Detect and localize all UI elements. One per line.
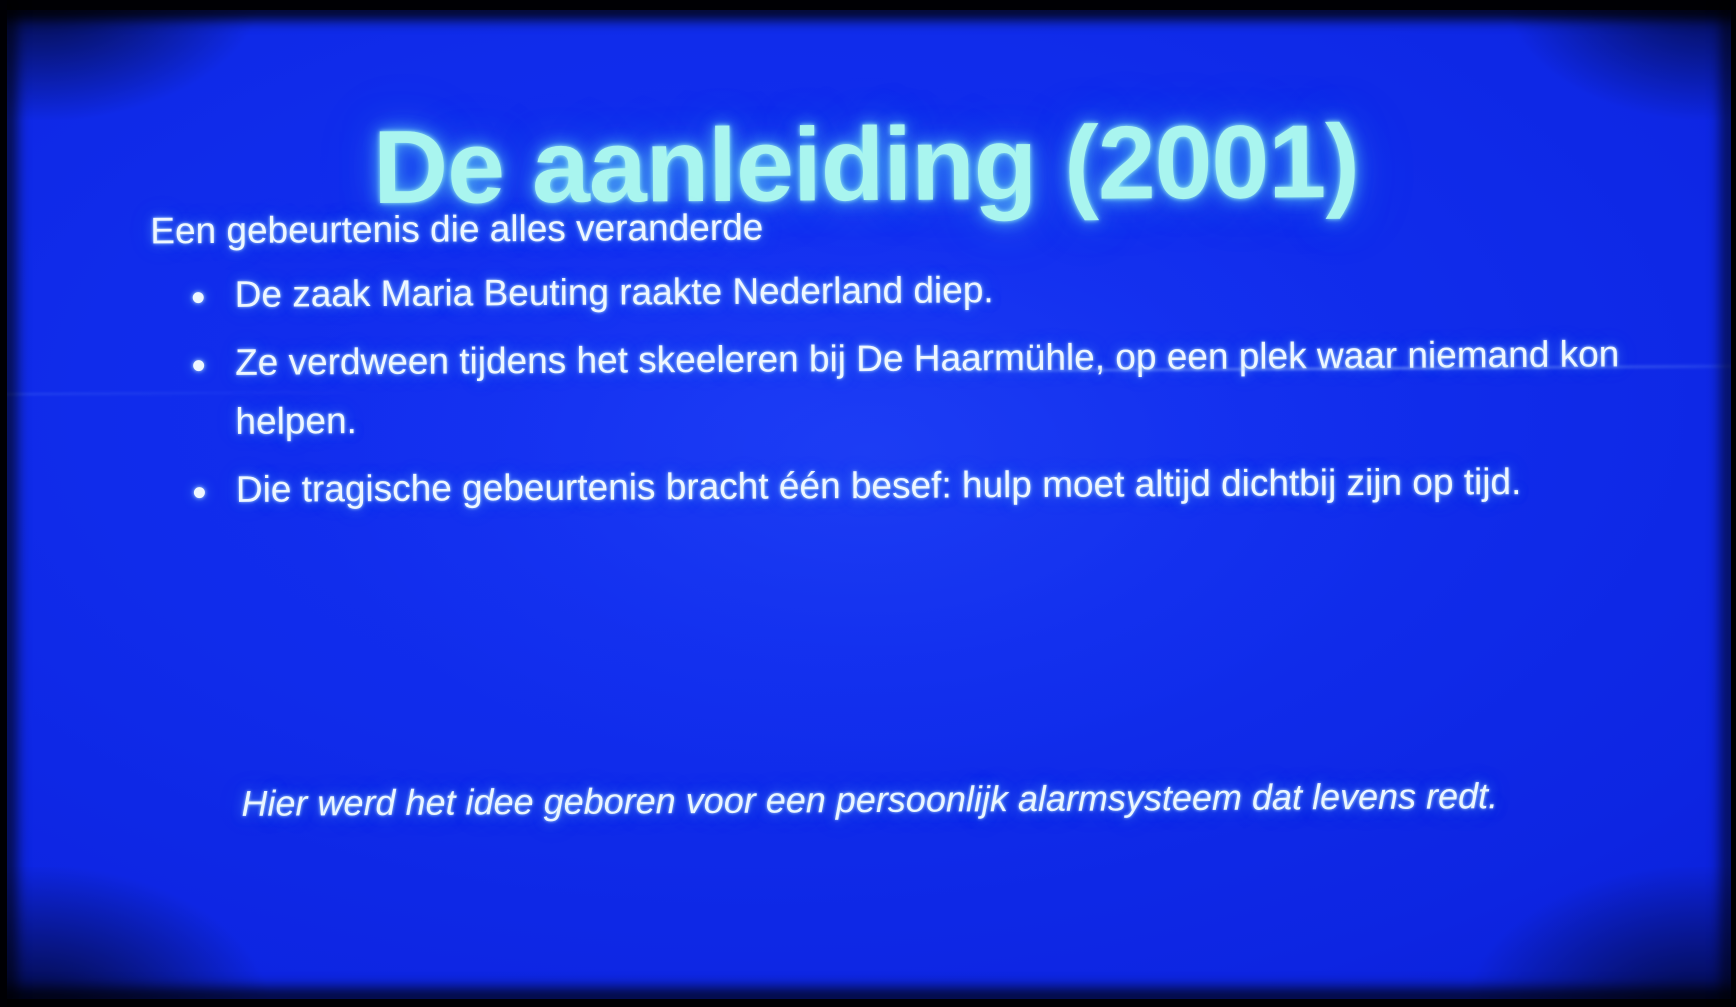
projected-slide-photo: De aanleiding (2001) Een gebeurtenis die…	[0, 0, 1736, 1007]
bullet-dot-icon	[194, 487, 205, 498]
bullet-text: Ze verdween tijdens het skeeleren bij De…	[235, 334, 1619, 442]
bullet-item: Die tragische gebeurtenis bracht één bes…	[182, 453, 1630, 520]
bullet-item: De zaak Maria Beuting raakte Nederland d…	[181, 257, 1629, 324]
bullet-item: Ze verdween tijdens het skeeleren bij De…	[181, 326, 1630, 452]
slide-lead-in-text: Een gebeurtenis die alles veranderde	[150, 207, 763, 253]
bullet-text: Die tragische gebeurtenis bracht één bes…	[236, 461, 1522, 510]
bullet-list: De zaak Maria Beuting raakte Nederland d…	[181, 257, 1631, 530]
slide-closing-line: Hier werd het idee geboren voor een pers…	[0, 774, 1736, 827]
bullet-text: De zaak Maria Beuting raakte Nederland d…	[235, 269, 994, 315]
slide-content: De aanleiding (2001) Een gebeurtenis die…	[0, 0, 1736, 1007]
bullet-dot-icon	[193, 292, 204, 303]
bullet-dot-icon	[193, 361, 204, 372]
slide-surface: De aanleiding (2001) Een gebeurtenis die…	[0, 0, 1736, 1007]
